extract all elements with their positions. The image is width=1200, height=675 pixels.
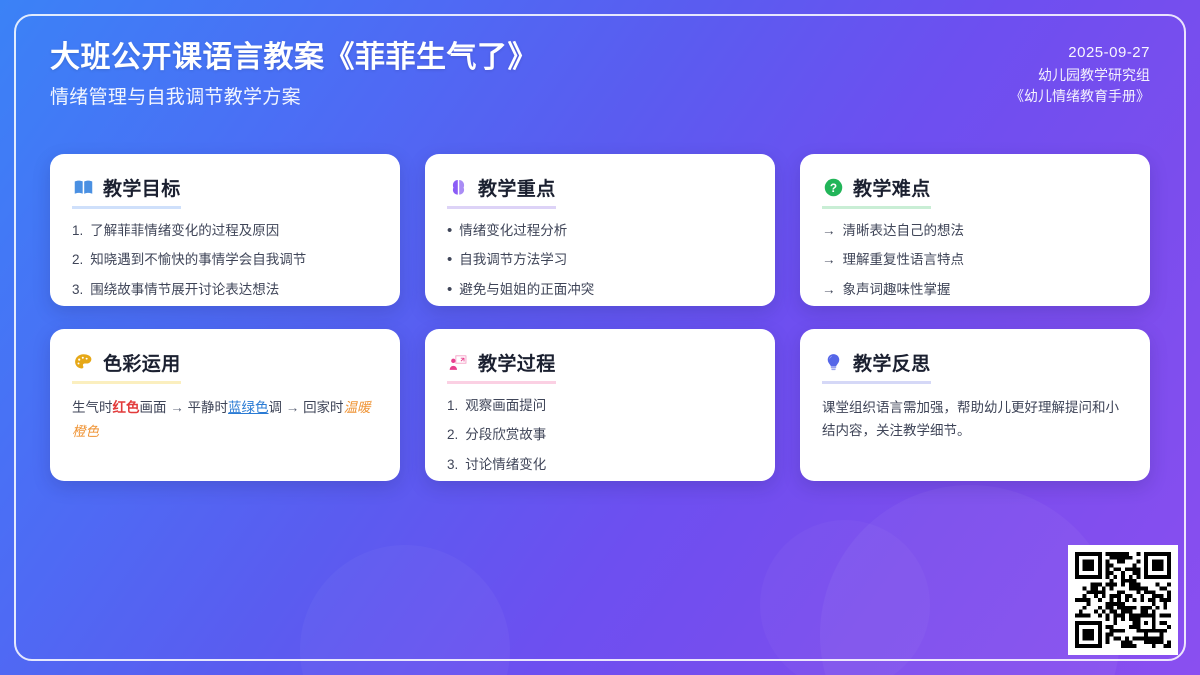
teacher-presenting-icon [447,352,469,374]
list-marker: • [447,250,452,270]
svg-text:?: ? [829,181,836,195]
page-subtitle: 情绪管理与自我调节教学方案 [50,86,538,110]
list-marker: 2. [447,425,458,445]
card-header: 教学目标 [72,174,181,209]
meta-date: 2025-09-27 [1010,42,1150,65]
list-item: → 理解重复性语言特点 [822,250,1128,270]
list-marker: → [822,280,836,300]
list-item: • 情绪变化过程分析 [447,221,753,241]
card-grid: 教学目标 1. 了解菲菲情绪变化的过程及原因 2. 知晓遇到不愉快的事情学会自我… [50,154,1150,481]
qr-code-image [1075,552,1171,648]
list-item: → 清晰表达自己的想法 [822,221,1128,241]
decorative-circle [760,520,930,675]
list-item: 3. 围绕故事情节展开讨论表达想法 [72,280,378,300]
card-header: ? 教学难点 [822,174,931,209]
qr-code[interactable] [1068,545,1178,655]
title-block: 大班公开课语言教案《菲菲生气了》 情绪管理与自我调节教学方案 [50,36,538,109]
card-teaching-process[interactable]: 教学过程 1. 观察画面提问 2. 分段欣赏故事 3. 讨论情绪变化 [425,329,775,481]
list-marker: → [822,250,836,270]
palette-icon [72,352,94,374]
brain-icon [447,177,469,199]
card-title: 教学反思 [853,349,931,376]
list-item-text: 知晓遇到不愉快的事情学会自我调节 [90,250,306,270]
arrow-separator: → [170,400,184,415]
card-teaching-reflection[interactable]: 教学反思 课堂组织语言需加强，帮助幼儿更好理解提问和小结内容，关注教学细节。 [800,329,1150,481]
card-title: 教学目标 [103,174,181,201]
list-item-text: 清晰表达自己的想法 [843,221,965,241]
page-title: 大班公开课语言教案《菲菲生气了》 [50,40,538,77]
list-item-text: 避免与姐姐的正面冲突 [459,280,594,300]
list-item-text: 自我调节方法学习 [459,250,567,270]
list-marker: 1. [72,221,83,241]
list-item: • 自我调节方法学习 [447,250,753,270]
list-marker: 2. [72,250,83,270]
card-header: 教学反思 [822,349,931,384]
key-points-list: • 情绪变化过程分析 • 自我调节方法学习 • 避免与姐姐的正面冲突 [447,221,753,300]
list-item-text: 观察画面提问 [465,396,546,416]
list-item: • 避免与姐姐的正面冲突 [447,280,753,300]
list-item: → 象声词趣味性掌握 [822,280,1128,300]
difficult-points-list: → 清晰表达自己的想法 → 理解重复性语言特点 → 象声词趣味性掌握 [822,221,1128,300]
highlight-teal: 蓝绿色 [228,400,269,415]
list-item: 3. 讨论情绪变化 [447,455,753,475]
card-key-points[interactable]: 教学重点 • 情绪变化过程分析 • 自我调节方法学习 • 避免与姐姐的正面冲突 [425,154,775,306]
slide-header: 大班公开课语言教案《菲菲生气了》 情绪管理与自我调节教学方案 2025-09-2… [50,36,1150,109]
card-title: 教学难点 [853,174,931,201]
card-header: 色彩运用 [72,349,181,384]
meta-organization: 幼儿园教学研究组 [1010,65,1150,87]
text-segment: 生气时 [72,400,113,415]
list-marker: • [447,221,452,241]
text-segment: 调 [269,400,283,415]
highlight-red: 红色 [113,400,140,415]
list-marker: • [447,280,452,300]
list-item-text: 了解菲菲情绪变化的过程及原因 [90,221,279,241]
card-title: 教学过程 [478,349,556,376]
list-item: 2. 知晓遇到不愉快的事情学会自我调节 [72,250,378,270]
open-book-icon [72,177,94,199]
list-marker: → [822,221,836,241]
text-segment: 回家时 [303,400,344,415]
question-mark-icon: ? [822,177,844,199]
list-item-text: 围绕故事情节展开讨论表达想法 [90,280,279,300]
list-item-text: 情绪变化过程分析 [459,221,567,241]
color-usage-text: 生气时红色画面 → 平静时蓝绿色调 → 回家时温暖橙色 [72,396,378,444]
list-item: 1. 了解菲菲情绪变化的过程及原因 [72,221,378,241]
decorative-circle [300,545,510,675]
list-marker: 3. [447,455,458,475]
slide-canvas: 大班公开课语言教案《菲菲生气了》 情绪管理与自我调节教学方案 2025-09-2… [0,0,1200,675]
list-item-text: 理解重复性语言特点 [843,250,965,270]
meta-source: 《幼儿情绪教育手册》 [1010,86,1150,108]
card-header: 教学重点 [447,174,556,209]
text-segment: 画面 [140,400,167,415]
arrow-separator: → [286,400,300,415]
meta-block: 2025-09-27 幼儿园教学研究组 《幼儿情绪教育手册》 [1010,36,1150,108]
list-item-text: 象声词趣味性掌握 [843,280,951,300]
objectives-list: 1. 了解菲菲情绪变化的过程及原因 2. 知晓遇到不愉快的事情学会自我调节 3.… [72,221,378,300]
card-header: 教学过程 [447,349,556,384]
list-item: 2. 分段欣赏故事 [447,425,753,445]
list-marker: 3. [72,280,83,300]
lightbulb-icon [822,352,844,374]
list-item-text: 分段欣赏故事 [465,425,546,445]
list-marker: 1. [447,396,458,416]
process-list: 1. 观察画面提问 2. 分段欣赏故事 3. 讨论情绪变化 [447,396,753,475]
list-item: 1. 观察画面提问 [447,396,753,416]
card-title: 教学重点 [478,174,556,201]
card-color-usage[interactable]: 色彩运用 生气时红色画面 → 平静时蓝绿色调 → 回家时温暖橙色 [50,329,400,481]
reflection-paragraph: 课堂组织语言需加强，帮助幼儿更好理解提问和小结内容，关注教学细节。 [822,396,1128,442]
card-title: 色彩运用 [103,349,181,376]
card-difficult-points[interactable]: ? 教学难点 → 清晰表达自己的想法 → 理解重复性语言特点 → 象声词趣味性掌… [800,154,1150,306]
text-segment: 平静时 [188,400,229,415]
card-teaching-objectives[interactable]: 教学目标 1. 了解菲菲情绪变化的过程及原因 2. 知晓遇到不愉快的事情学会自我… [50,154,400,306]
list-item-text: 讨论情绪变化 [465,455,546,475]
